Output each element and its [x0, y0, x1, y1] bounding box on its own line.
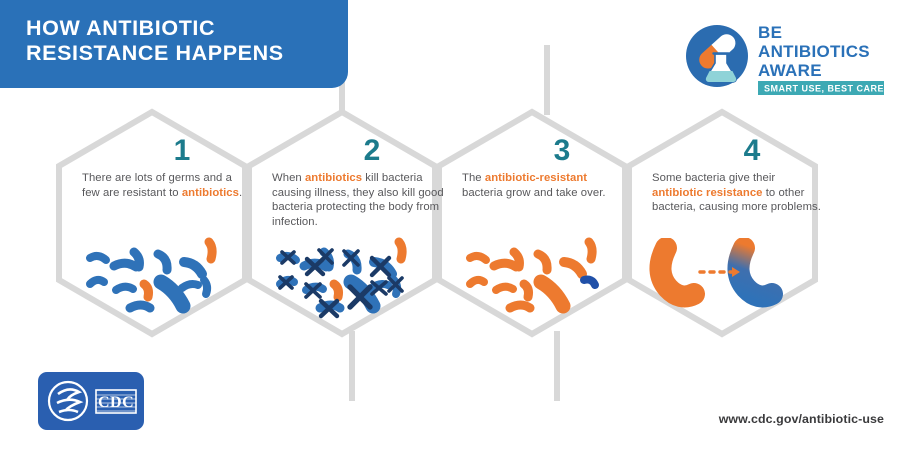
infographic-canvas: HOW ANTIBIOTIC RESISTANCE HAPPENS BE ANT… [0, 0, 900, 450]
step-4-bacteria-art [648, 238, 818, 308]
step-4: 4 Some bacteria give their antibiotic re… [652, 135, 852, 215]
recipient-bacterium [738, 248, 772, 296]
title-banner: HOW ANTIBIOTIC RESISTANCE HAPPENS [0, 0, 348, 88]
logo-line-3: AWARE [758, 61, 822, 80]
step-2-bacteria-art [268, 232, 428, 322]
step-3: 3 The antibiotic-resistant bacteria grow… [462, 135, 662, 200]
step-3-text: The antibiotic-resistant bacteria grow a… [462, 171, 630, 200]
title-line-1: HOW ANTIBIOTIC [26, 16, 348, 41]
step-1-bacteria-art [78, 232, 238, 322]
step-3-bacteria-art [458, 232, 618, 322]
logo-line-1: BE [758, 23, 782, 42]
logo-tagline: SMART USE, BEST CARE [764, 84, 884, 94]
cdc-logo: CDC [38, 372, 144, 430]
step-4-text: Some bacteria give their antibiotic resi… [652, 171, 824, 215]
step-2-number: 2 [272, 135, 472, 167]
title-line-2: RESISTANCE HAPPENS [26, 41, 348, 66]
website-url[interactable]: www.cdc.gov/antibiotic-use [694, 412, 884, 426]
step-2-text: When antibiotics kill bacteria causing i… [272, 171, 448, 229]
logo-line-2: ANTIBIOTICS [758, 42, 870, 61]
step-1-highlight-1: antibiotics [182, 187, 239, 199]
step-1-number: 1 [82, 135, 282, 167]
step-3-number: 3 [462, 135, 662, 167]
svg-text:CDC: CDC [98, 394, 134, 411]
step-2: 2 When antibiotics kill bacteria causing… [272, 135, 472, 229]
step-2-highlight-1: antibiotics [305, 172, 362, 184]
step-4-highlight-1: antibiotic resistance [652, 187, 763, 199]
step-4-number: 4 [652, 135, 852, 167]
step-3-highlight-1: antibiotic-resistant [485, 172, 587, 184]
donor-bacterium [660, 248, 694, 296]
cdc-wordmark: CDC [96, 390, 136, 413]
step-1: 1 There are lots of germs and a few are … [82, 135, 282, 200]
step-1-text: There are lots of germs and a few are re… [82, 171, 250, 200]
transfer-arrow [700, 267, 740, 277]
be-antibiotics-aware-logo: BE ANTIBIOTICS AWARE SMART USE, BEST CAR… [684, 18, 884, 98]
